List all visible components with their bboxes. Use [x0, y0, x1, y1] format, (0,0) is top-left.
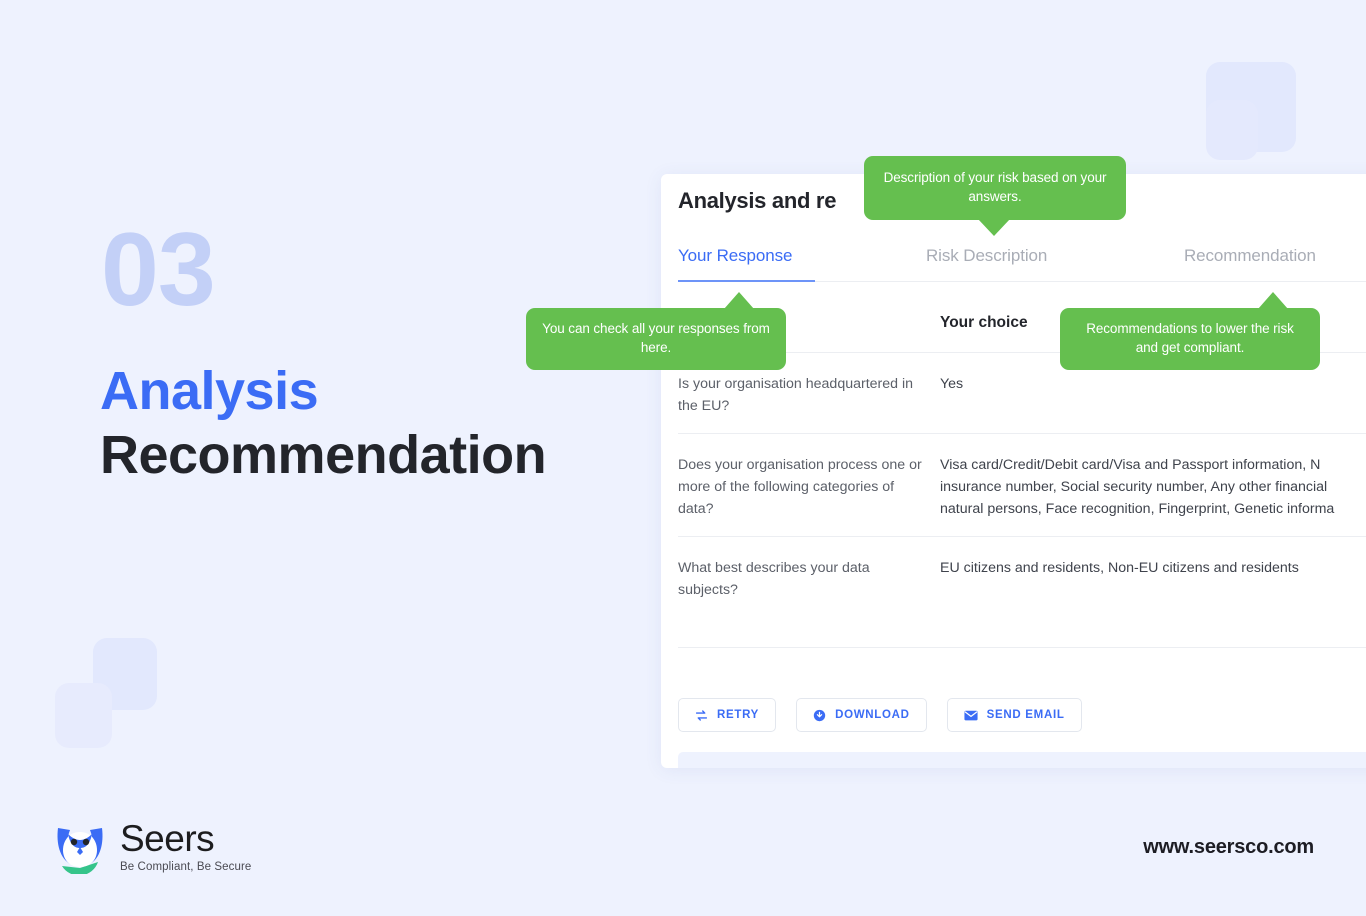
- page-title: Analysis Recommendation: [100, 360, 546, 487]
- tab-bar: Your Response Risk Description Recommend…: [678, 246, 1366, 278]
- owl-logo-icon: [52, 818, 108, 874]
- table-cell-question: Is your organisation headquartered in th…: [678, 373, 940, 417]
- retry-icon: [695, 709, 708, 722]
- tooltip-your-response: You can check all your responses from he…: [526, 308, 786, 370]
- table-cell-answer: Yes: [940, 373, 1366, 417]
- download-button-label: DOWNLOAD: [835, 709, 910, 721]
- slide-left-column: 03 Analysis Recommendation: [0, 0, 660, 916]
- tooltip-recommendation: Recommendations to lower the risk and ge…: [1060, 308, 1320, 370]
- table-cell-question: What best describes your data subjects?: [678, 557, 940, 601]
- logo-tagline: Be Compliant, Be Secure: [120, 861, 251, 873]
- step-number: 03: [101, 218, 215, 322]
- logo-text-block: Seers Be Compliant, Be Secure: [120, 820, 251, 873]
- table-row: Does your organisation process one or mo…: [678, 434, 1366, 536]
- table-divider: [678, 647, 1366, 648]
- headline-line-analysis: Analysis: [100, 360, 546, 424]
- retry-button-label: RETRY: [717, 709, 759, 721]
- website-url: www.seersco.com: [1143, 836, 1314, 859]
- send-email-button[interactable]: SEND EMAIL: [947, 698, 1082, 732]
- action-button-bar: RETRY DOWNLOAD SEND EMAIL: [678, 698, 1082, 732]
- table-cell-answer: Visa card/Credit/Debit card/Visa and Pas…: [940, 454, 1366, 520]
- logo-wordmark: Seers: [120, 820, 251, 857]
- envelope-icon: [964, 710, 978, 721]
- retry-button[interactable]: RETRY: [678, 698, 776, 732]
- tab-risk-description[interactable]: Risk Description: [926, 246, 1184, 278]
- tooltip-risk-arrow-icon: [978, 219, 1010, 236]
- tab-your-response[interactable]: Your Response: [678, 246, 926, 278]
- table-cell-question: Does your organisation process one or mo…: [678, 454, 940, 520]
- download-icon: [813, 709, 826, 722]
- brand-logo: Seers Be Compliant, Be Secure: [52, 818, 251, 874]
- decorative-square-top-right-small: [1206, 100, 1258, 160]
- active-tab-indicator: [678, 280, 815, 282]
- table-cell-answer: EU citizens and residents, Non-EU citize…: [940, 557, 1366, 601]
- tab-recommendation[interactable]: Recommendation: [1184, 246, 1366, 278]
- analysis-card: Analysis and re Your Response Risk Descr…: [661, 174, 1366, 768]
- table-row: What best describes your data subjects? …: [678, 537, 1366, 647]
- download-button[interactable]: DOWNLOAD: [796, 698, 927, 732]
- send-email-button-label: SEND EMAIL: [987, 709, 1065, 721]
- card-footer-panel: [678, 752, 1366, 768]
- card-title: Analysis and re: [678, 188, 836, 214]
- tooltip-risk-description: Description of your risk based on your a…: [864, 156, 1126, 220]
- table-header-your-choice: Your choice: [940, 314, 1028, 332]
- headline-line-recommendation: Recommendation: [100, 424, 546, 488]
- tooltip-recommendation-arrow-icon: [1258, 292, 1288, 309]
- tooltip-response-arrow-icon: [724, 292, 754, 309]
